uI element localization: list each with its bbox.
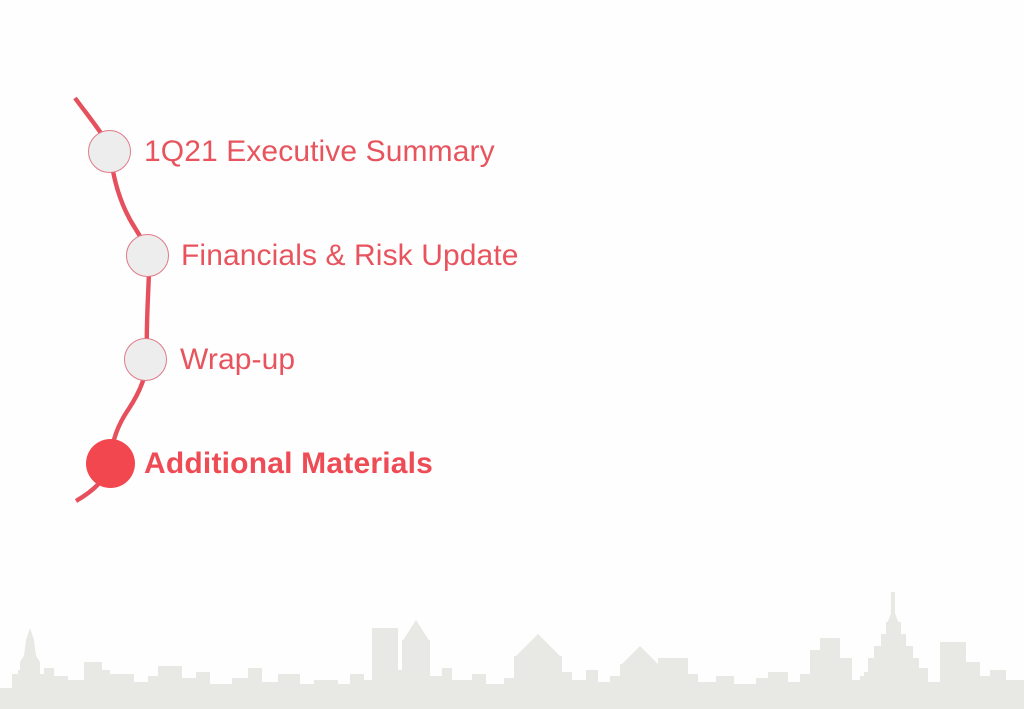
agenda-item-label: Additional Materials: [144, 449, 433, 479]
city-skyline-silhouette: [0, 584, 1024, 709]
agenda-timeline: 1Q21 Executive Summary Financials & Risk…: [0, 0, 620, 540]
agenda-item-label: Wrap-up: [180, 345, 295, 375]
timeline-node-icon[interactable]: [88, 130, 131, 173]
timeline-node-icon[interactable]: [126, 234, 169, 277]
agenda-item-label: 1Q21 Executive Summary: [144, 137, 495, 167]
agenda-item-label: Financials & Risk Update: [181, 241, 519, 271]
skyline-shapes: [0, 592, 1024, 709]
timeline-node-icon[interactable]: [124, 338, 167, 381]
agenda-divider-slide: 1Q21 Executive Summary Financials & Risk…: [0, 0, 1024, 709]
timeline-node-active-icon[interactable]: [86, 439, 135, 488]
